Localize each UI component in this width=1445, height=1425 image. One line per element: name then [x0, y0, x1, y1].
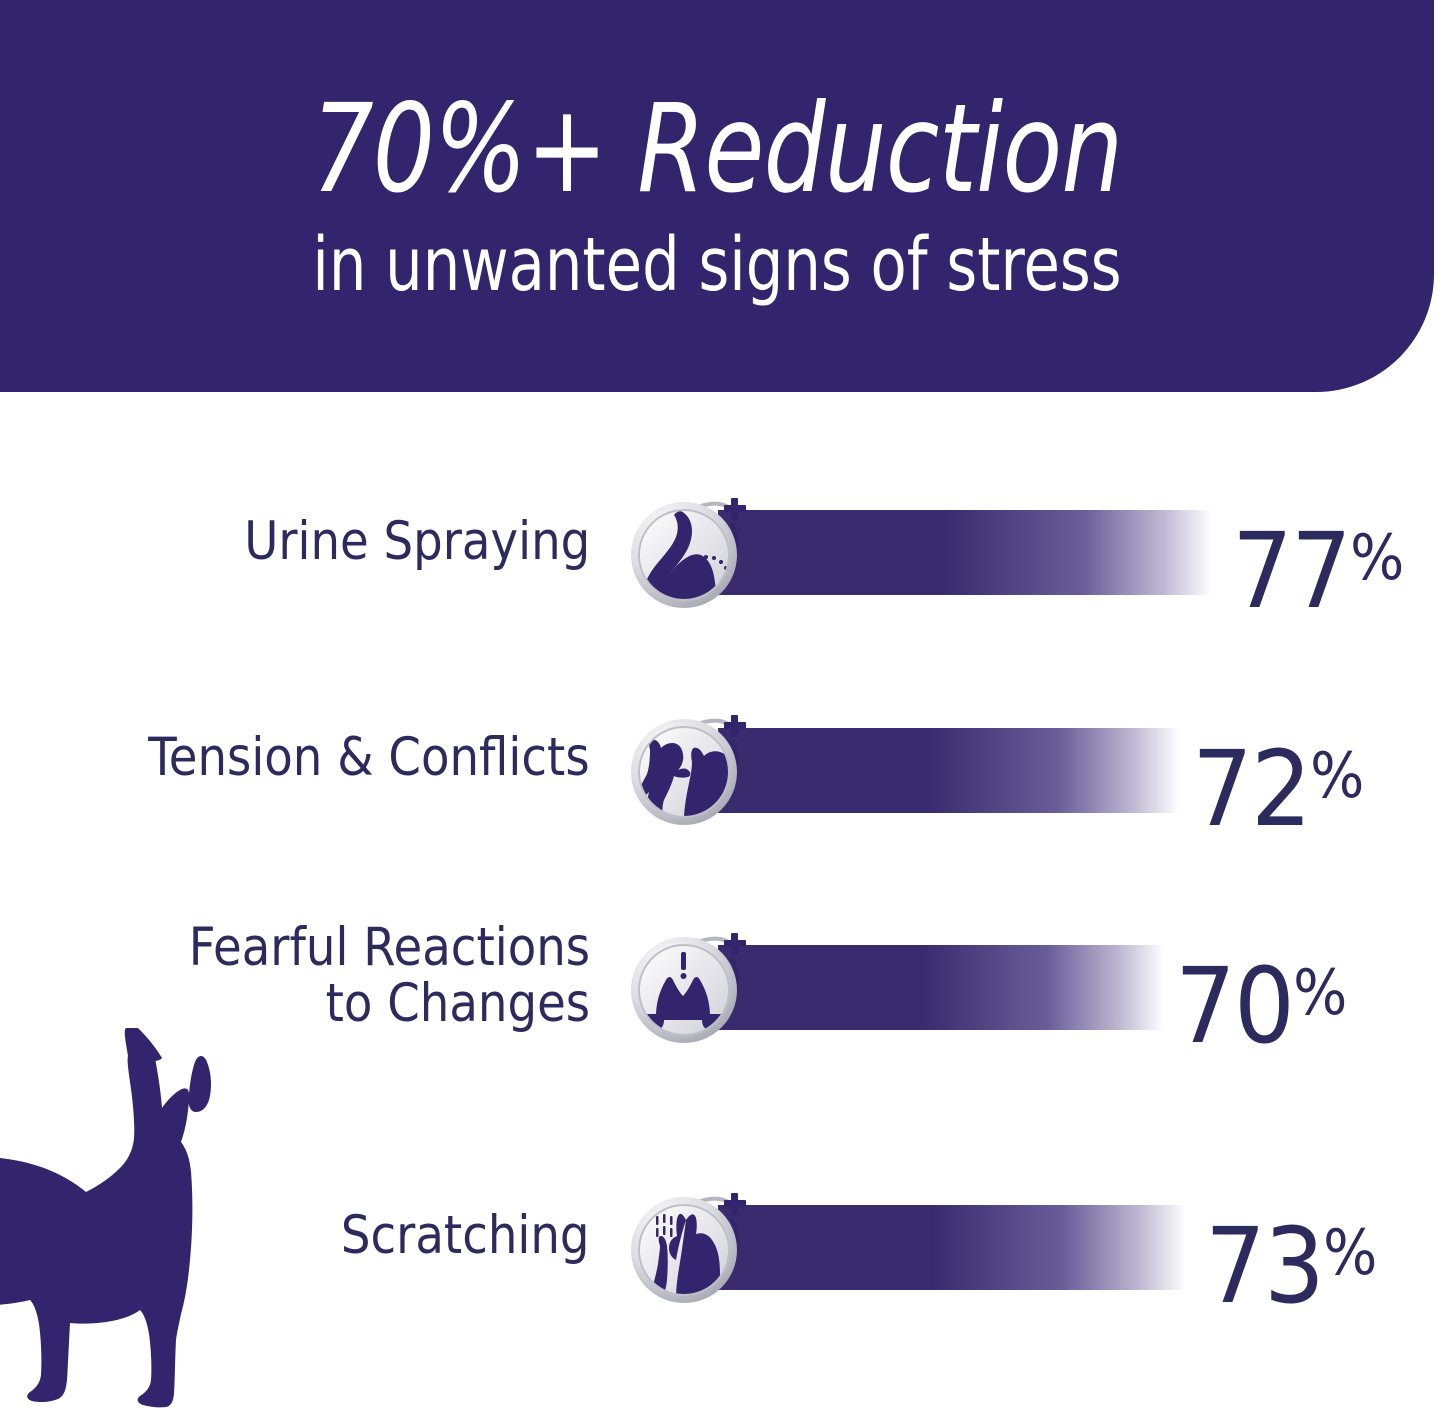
bar-fill — [718, 728, 1179, 813]
percent-symbol: % — [1350, 521, 1403, 594]
cat-spraying-icon — [628, 495, 746, 613]
two-cats-conflict-icon — [628, 712, 746, 830]
bar-label: Fearful Reactions to Changes — [189, 920, 590, 1032]
bar-value: 70% — [1175, 945, 1346, 1067]
bar-value: 73% — [1205, 1205, 1376, 1327]
bar-value-number: 73 — [1205, 1205, 1323, 1327]
bar-value-number: 72 — [1192, 728, 1310, 850]
hiding-cat-alert-icon — [628, 930, 746, 1048]
bar-label: Scratching — [341, 1208, 590, 1264]
percent-symbol: % — [1323, 1216, 1376, 1289]
bar-value-number: 70 — [1175, 945, 1293, 1067]
bar-label: Tension & Conflicts — [149, 730, 590, 786]
percent-symbol: % — [1293, 956, 1346, 1029]
bar-value-number: 77 — [1232, 510, 1350, 632]
bar-value: 77% — [1232, 510, 1403, 632]
bar-fill — [718, 1205, 1186, 1290]
page-title: 70%+ Reduction — [143, 88, 1290, 210]
bar-label: Urine Spraying — [244, 514, 590, 570]
bar-value: 72% — [1192, 728, 1363, 850]
bar-fill — [718, 945, 1164, 1030]
bar-fill — [718, 510, 1212, 595]
page-subtitle: in unwanted signs of stress — [143, 228, 1290, 302]
cat-scratching-icon — [628, 1190, 746, 1308]
stress-reduction-chart: Urine Spraying — [0, 392, 1445, 1419]
header-banner: 70%+ Reduction in unwanted signs of stre… — [0, 0, 1434, 392]
percent-symbol: % — [1310, 739, 1363, 812]
